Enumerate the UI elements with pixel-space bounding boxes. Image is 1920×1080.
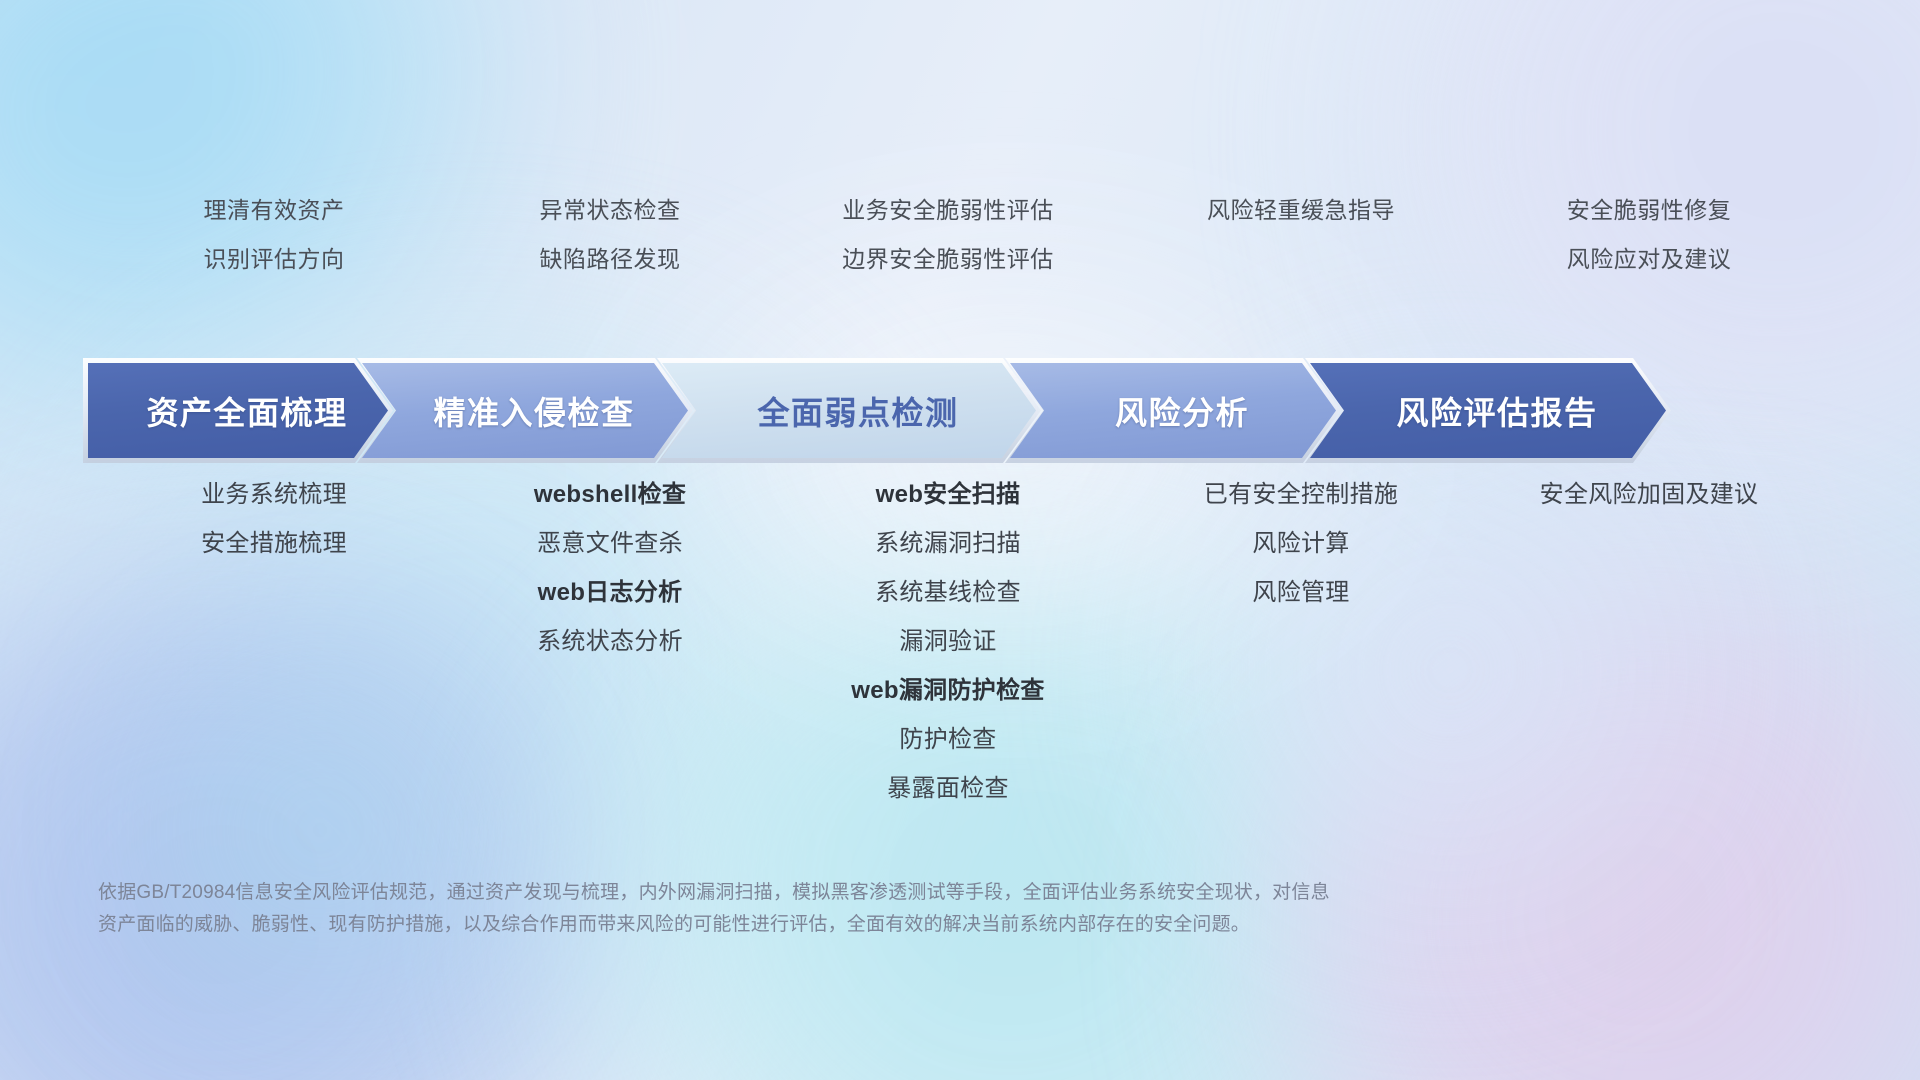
top-note-line: 安全脆弱性修复 <box>1567 186 1732 235</box>
top-note-line: 边界安全脆弱性评估 <box>842 235 1054 284</box>
process-diagram: 理清有效资产识别评估方向异常状态检查缺陷路径发现业务安全脆弱性评估边界安全脆弱性… <box>0 0 1920 1080</box>
detail-list-item: web安全扫描 <box>876 470 1021 519</box>
process-step-label: 风险评估报告 <box>1378 388 1597 434</box>
detail-list-item: web漏洞防护检查 <box>851 666 1044 715</box>
top-note-column-5: 安全脆弱性修复风险应对及建议 <box>1466 186 1832 284</box>
top-note-line: 业务安全脆弱性评估 <box>842 186 1054 235</box>
detail-list-item: 安全风险加固及建议 <box>1540 470 1759 519</box>
top-note-column-1: 理清有效资产识别评估方向 <box>88 186 460 284</box>
detail-list-item: 系统漏洞扫描 <box>875 519 1021 568</box>
top-note-line: 识别评估方向 <box>204 235 345 284</box>
process-step-label: 全面弱点检测 <box>739 388 958 434</box>
process-step-2[interactable]: 精准入侵检查 <box>362 363 688 458</box>
detail-list-item: 已有安全控制措施 <box>1204 470 1398 519</box>
detail-list-column-1: 业务系统梳理安全措施梳理 <box>88 470 460 568</box>
detail-list-column-2: webshell检查恶意文件查杀web日志分析系统状态分析 <box>460 470 760 666</box>
top-note-line: 缺陷路径发现 <box>540 235 681 284</box>
footer-description: 依据GB/T20984信息安全风险评估规范，通过资产发现与梳理，内外网漏洞扫描，… <box>98 877 1618 941</box>
detail-list-column-4: 已有安全控制措施风险计算风险管理 <box>1136 470 1466 617</box>
detail-list-item: 恶意文件查杀 <box>537 519 683 568</box>
detail-list-column-3: web安全扫描系统漏洞扫描系统基线检查漏洞验证web漏洞防护检查防护检查暴露面检… <box>760 470 1136 813</box>
detail-list-item: 业务系统梳理 <box>201 470 347 519</box>
footer-line-2: 资产面临的威胁、脆弱性、现有防护措施，以及综合作用而带来风险的可能性进行评估，全… <box>98 909 1618 941</box>
process-step-label: 资产全面梳理 <box>128 388 347 434</box>
process-step-5[interactable]: 风险评估报告 <box>1310 363 1666 458</box>
top-note-column-4: 风险轻重缓急指导 <box>1136 186 1466 284</box>
top-note-line: 理清有效资产 <box>204 186 345 235</box>
process-step-4[interactable]: 风险分析 <box>1010 363 1336 458</box>
process-step-3[interactable]: 全面弱点检测 <box>662 363 1036 458</box>
detail-list-item: 系统基线检查 <box>875 568 1021 617</box>
process-step-1[interactable]: 资产全面梳理 <box>88 363 388 458</box>
top-note-line: 风险轻重缓急指导 <box>1207 186 1395 235</box>
top-note-line: 风险应对及建议 <box>1567 235 1732 284</box>
detail-list-item: 风险计算 <box>1252 519 1349 568</box>
detail-list-item: 防护检查 <box>899 715 996 764</box>
process-arrow-banner: 资产全面梳理精准入侵检查全面弱点检测风险分析风险评估报告 <box>88 363 1832 458</box>
process-step-label: 精准入侵检查 <box>415 388 634 434</box>
detail-list-column-5: 安全风险加固及建议 <box>1466 470 1832 519</box>
top-note-column-2: 异常状态检查缺陷路径发现 <box>460 186 760 284</box>
detail-list-item: web日志分析 <box>538 568 683 617</box>
top-notes-row: 理清有效资产识别评估方向异常状态检查缺陷路径发现业务安全脆弱性评估边界安全脆弱性… <box>88 186 1832 284</box>
footer-line-1: 依据GB/T20984信息安全风险评估规范，通过资产发现与梳理，内外网漏洞扫描，… <box>98 877 1618 909</box>
detail-list-item: webshell检查 <box>534 470 686 519</box>
bottom-detail-lists: 业务系统梳理安全措施梳理webshell检查恶意文件查杀web日志分析系统状态分… <box>88 470 1832 813</box>
detail-list-item: 风险管理 <box>1252 568 1349 617</box>
top-note-column-3: 业务安全脆弱性评估边界安全脆弱性评估 <box>760 186 1136 284</box>
detail-list-item: 系统状态分析 <box>537 617 683 666</box>
top-note-line: 异常状态检查 <box>540 186 681 235</box>
detail-list-item: 安全措施梳理 <box>201 519 347 568</box>
detail-list-item: 暴露面检查 <box>887 764 1009 813</box>
process-step-label: 风险分析 <box>1097 388 1249 434</box>
detail-list-item: 漏洞验证 <box>899 617 996 666</box>
